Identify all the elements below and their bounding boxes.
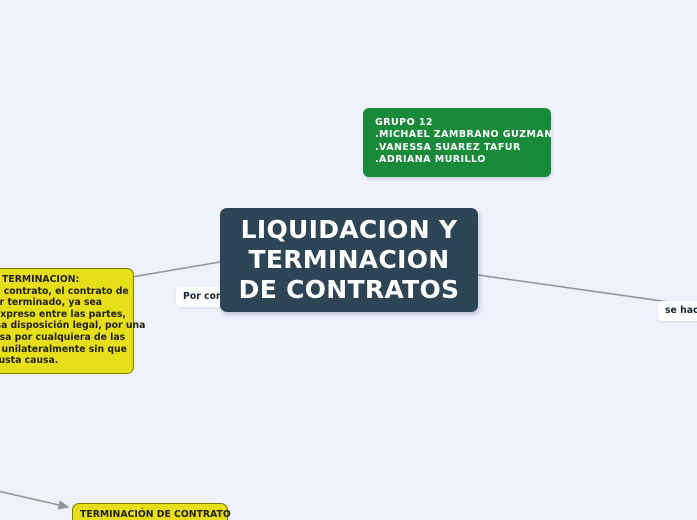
note-line: trabajo puede ser terminado, ya sea bbox=[0, 297, 126, 309]
note-line: por un acuerdo expreso entre las partes, bbox=[0, 309, 126, 321]
central-topic-line: LIQUIDACION Y bbox=[241, 215, 458, 245]
note-line: Al igual que todo contrato, el contrato … bbox=[0, 286, 126, 298]
mindmap-canvas[interactable]: GRUPO 12 .MICHAEL ZAMBRANO GUZMAN .VANES… bbox=[0, 0, 697, 520]
note-line: determinada causa por cualquiera de las bbox=[0, 332, 126, 344]
group-note-line: .VANESSA SUAREZ TAFUR bbox=[375, 142, 539, 154]
central-topic-node[interactable]: LIQUIDACION Y TERMINACION DE CONTRATOS bbox=[220, 208, 478, 312]
note-line: partes, o incluso unilateralmente sin qu… bbox=[0, 344, 126, 356]
group-note-line: GRUPO 12 bbox=[375, 117, 539, 129]
note-causales-terminacion[interactable]: CAUSALES DE LA TERMINACION: Al igual que… bbox=[0, 268, 134, 374]
note-line: o en virtud de una disposición legal, po… bbox=[0, 320, 126, 332]
group-note-line: .MICHAEL ZAMBRANO GUZMAN bbox=[375, 129, 539, 141]
note-line: TERMINACIÓN DE CONTRATO bbox=[80, 509, 220, 520]
note-line: para ello exista justa causa. bbox=[0, 355, 126, 367]
group-members-note[interactable]: GRUPO 12 .MICHAEL ZAMBRANO GUZMAN .VANES… bbox=[363, 108, 551, 177]
group-note-line: .ADRIANA MURILLO bbox=[375, 154, 539, 166]
connector-to-finalizacion-obra bbox=[0, 478, 68, 507]
note-terminacion-finalizacion-obra[interactable]: TERMINACIÓN DE CONTRATO POR FINALIZACIÓN… bbox=[72, 503, 228, 520]
central-topic-line: DE CONTRATOS bbox=[239, 275, 460, 305]
note-line: CAUSALES DE LA TERMINACION: bbox=[0, 274, 126, 286]
central-topic-line: TERMINACION bbox=[249, 245, 450, 275]
edge-label-se-hace[interactable]: se hace bbox=[658, 301, 697, 321]
